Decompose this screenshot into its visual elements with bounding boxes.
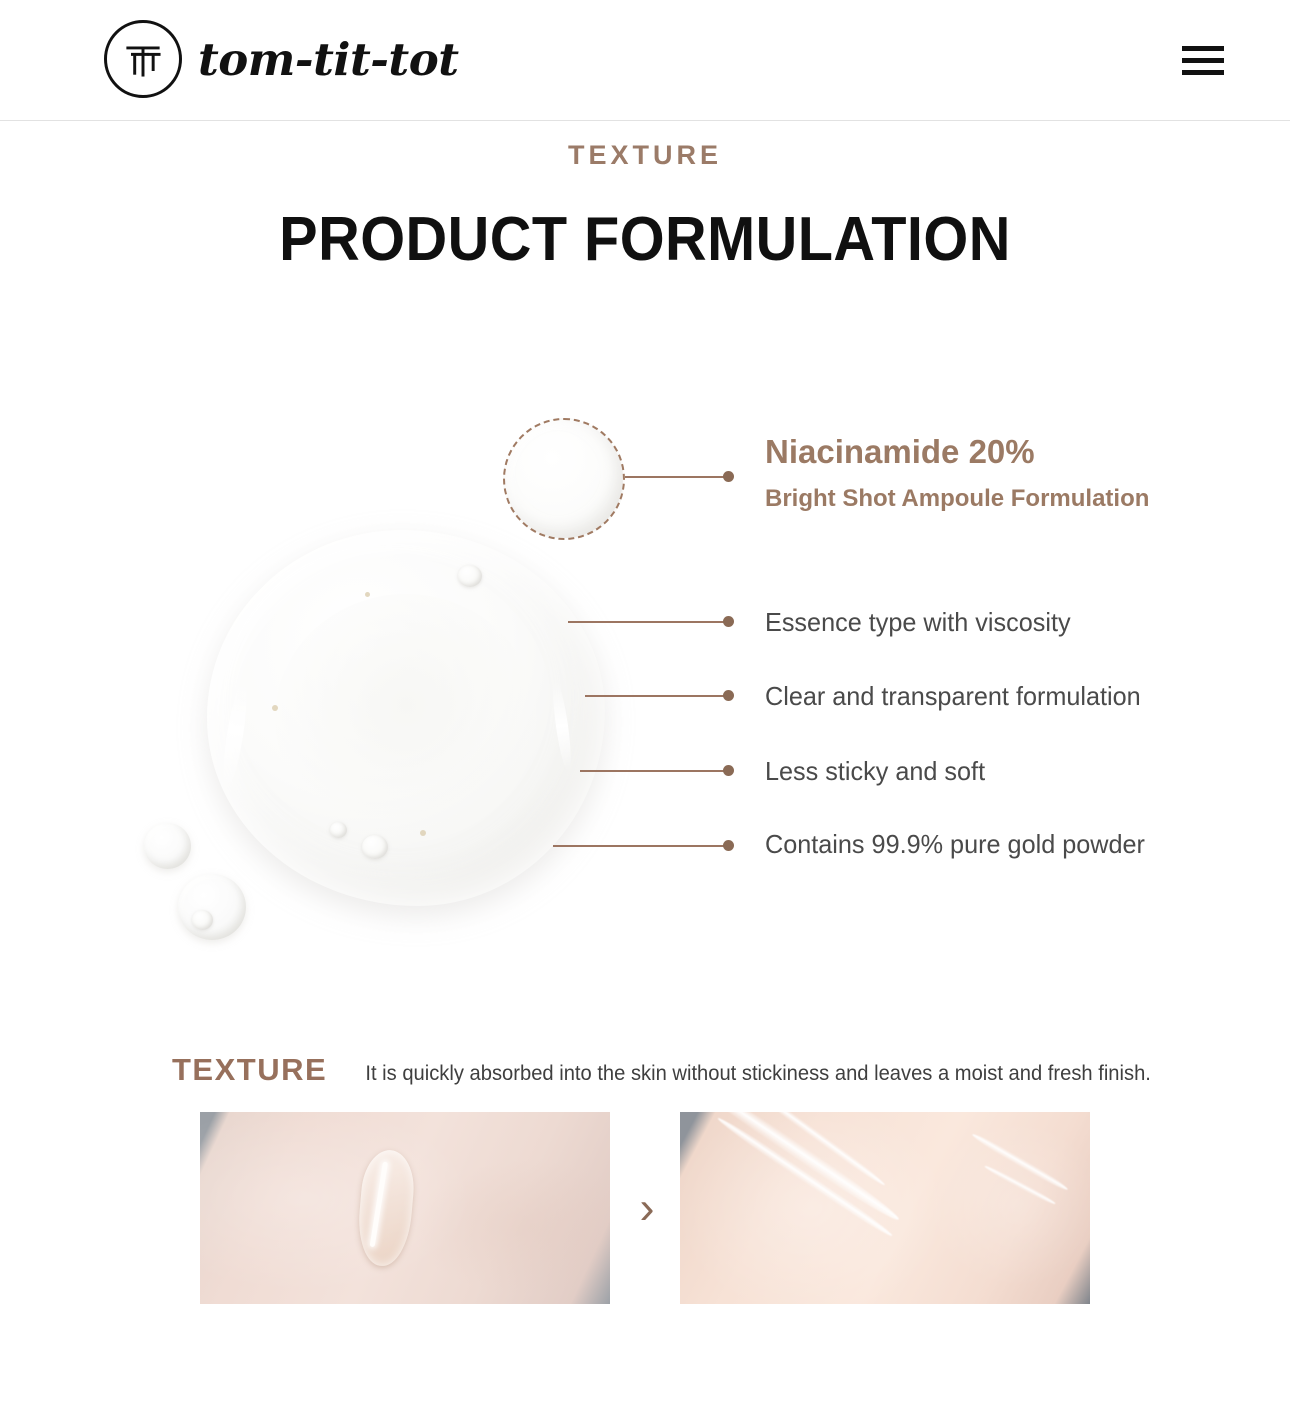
callout-title: Niacinamide 20% — [765, 433, 1035, 471]
feature-label-1: Essence type with viscosity — [765, 607, 1071, 638]
callout-subtitle: Bright Shot Ampoule Formulation — [765, 485, 1149, 513]
section-eyebrow: TEXTURE — [0, 140, 1290, 171]
leader-line-niacinamide — [625, 476, 725, 478]
leader-line-feature-1 — [568, 621, 725, 623]
site-header: tom-tit-tot — [0, 0, 1290, 121]
feature-label-2: Clear and transparent formulation — [765, 681, 1141, 712]
brand-wordmark: tom-tit-tot — [198, 37, 459, 82]
satellite-droplet-small — [144, 823, 191, 869]
satellite-droplet-large — [178, 874, 246, 940]
gold-speck-1 — [365, 592, 370, 597]
texture-tag: TEXTURE — [172, 1052, 327, 1088]
droplet-bubble-3 — [330, 822, 347, 838]
feature-label-4: Contains 99.9% pure gold powder — [765, 829, 1145, 860]
satellite-inner-bubble — [192, 910, 213, 930]
texture-caption-row: TEXTURE It is quickly absorbed into the … — [172, 1052, 1167, 1088]
formulation-diagram — [0, 380, 1290, 980]
menu-bar-3 — [1182, 70, 1224, 75]
menu-bar-2 — [1182, 58, 1224, 63]
photo-before-absorption — [200, 1112, 610, 1304]
zoom-callout-circle — [503, 418, 625, 540]
menu-bar-1 — [1182, 46, 1224, 51]
leader-line-feature-3 — [580, 770, 725, 772]
chevron-right-icon: › — [622, 1182, 672, 1234]
photo-after-absorption — [680, 1112, 1090, 1304]
leader-dot-feature-4 — [723, 840, 734, 851]
droplet-bubble-4 — [362, 835, 388, 859]
leader-dot-feature-1 — [723, 616, 734, 627]
serum-droplet-illustration — [207, 530, 605, 906]
texture-description: It is quickly absorbed into the skin wit… — [366, 1062, 1152, 1086]
leader-dot-feature-2 — [723, 690, 734, 701]
feature-label-3: Less sticky and soft — [765, 756, 985, 787]
leader-dot-niacinamide — [723, 471, 734, 482]
gold-speck-3 — [420, 830, 426, 836]
gold-speck-2 — [272, 705, 278, 711]
leader-line-feature-2 — [585, 695, 725, 697]
page-title: PRODUCT FORMULATION — [45, 204, 1245, 275]
leader-dot-feature-3 — [723, 765, 734, 776]
logo-monogram-icon — [104, 20, 182, 98]
leader-line-feature-4 — [553, 845, 725, 847]
hamburger-menu-icon[interactable] — [1182, 38, 1228, 82]
brand-logo[interactable]: tom-tit-tot — [104, 20, 459, 98]
droplet-bubble-1 — [458, 565, 482, 587]
